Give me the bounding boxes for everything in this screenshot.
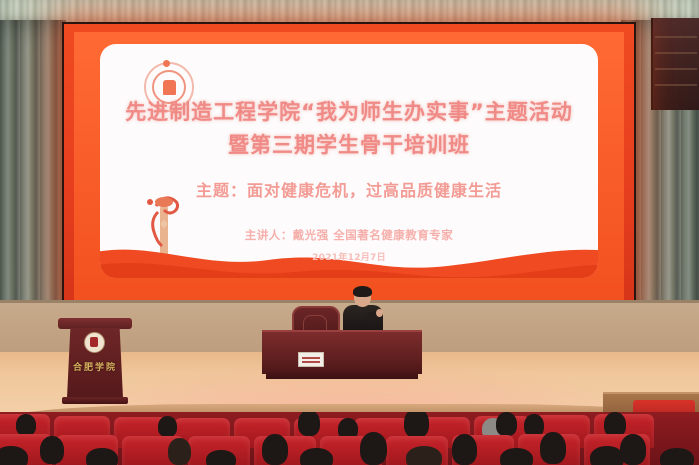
speaker-hand bbox=[376, 309, 383, 317]
audience-head bbox=[500, 448, 533, 465]
audience-head bbox=[404, 412, 429, 438]
audience-head bbox=[0, 446, 28, 465]
podium-seal-icon bbox=[84, 332, 105, 353]
desk-name-card bbox=[298, 352, 324, 367]
slide-speaker-line: 主讲人：戴光强 全国著名健康教育专家 bbox=[100, 227, 598, 243]
table-skirt bbox=[266, 369, 418, 379]
audience-head bbox=[590, 446, 624, 465]
slide-subtitle: 主题：面对健康危机，过高品质健康生活 bbox=[100, 177, 598, 201]
slide-text-block: 先进制造工程学院“我为师生办实事”主题活动 暨第三期学生骨干培训班 主题：面对健… bbox=[100, 96, 598, 263]
audience-head bbox=[660, 448, 694, 465]
podium-label: 合肥学院 bbox=[58, 360, 132, 373]
audience-head bbox=[86, 448, 118, 465]
slide-card: 先进制造工程学院“我为师生办实事”主题活动 暨第三期学生骨干培训班 主题：面对健… bbox=[100, 44, 598, 278]
slide-title-line-1: 先进制造工程学院“我为师生办实事”主题活动 bbox=[100, 96, 598, 129]
led-screen: 先进制造工程学院“我为师生办实事”主题活动 暨第三期学生骨干培训班 主题：面对健… bbox=[62, 22, 636, 314]
led-screen-inner: 先进制造工程学院“我为师生办实事”主题活动 暨第三期学生骨干培训班 主题：面对健… bbox=[74, 32, 624, 306]
audience-head bbox=[496, 412, 517, 436]
audience-head bbox=[300, 448, 333, 465]
slide-date: 2021年12月7日 bbox=[100, 250, 598, 263]
audience-head bbox=[406, 446, 442, 465]
audience-head bbox=[158, 416, 177, 437]
audience-head bbox=[16, 414, 36, 436]
seated-speaker bbox=[340, 288, 386, 336]
crest-core bbox=[163, 80, 176, 95]
audience-head bbox=[540, 432, 566, 464]
audience-head bbox=[40, 436, 64, 464]
audience-head bbox=[262, 434, 288, 465]
audience-head bbox=[298, 412, 320, 436]
audience-head bbox=[168, 438, 191, 465]
podium-top bbox=[58, 318, 132, 329]
ceiling-speaker-column bbox=[651, 18, 699, 110]
speaking-podium: 合肥学院 bbox=[58, 318, 132, 404]
audience-head bbox=[360, 432, 387, 465]
presenter-table bbox=[262, 330, 422, 374]
audience-area bbox=[0, 412, 699, 465]
audience-head bbox=[206, 450, 236, 465]
speaker-hair bbox=[353, 286, 372, 297]
audience-head bbox=[452, 434, 477, 465]
podium-base bbox=[62, 397, 128, 404]
auditorium-scene: 先进制造工程学院“我为师生办实事”主题活动 暨第三期学生骨干培训班 主题：面对健… bbox=[0, 0, 699, 465]
slide-title-line-2: 暨第三期学生骨干培训班 bbox=[100, 129, 598, 162]
